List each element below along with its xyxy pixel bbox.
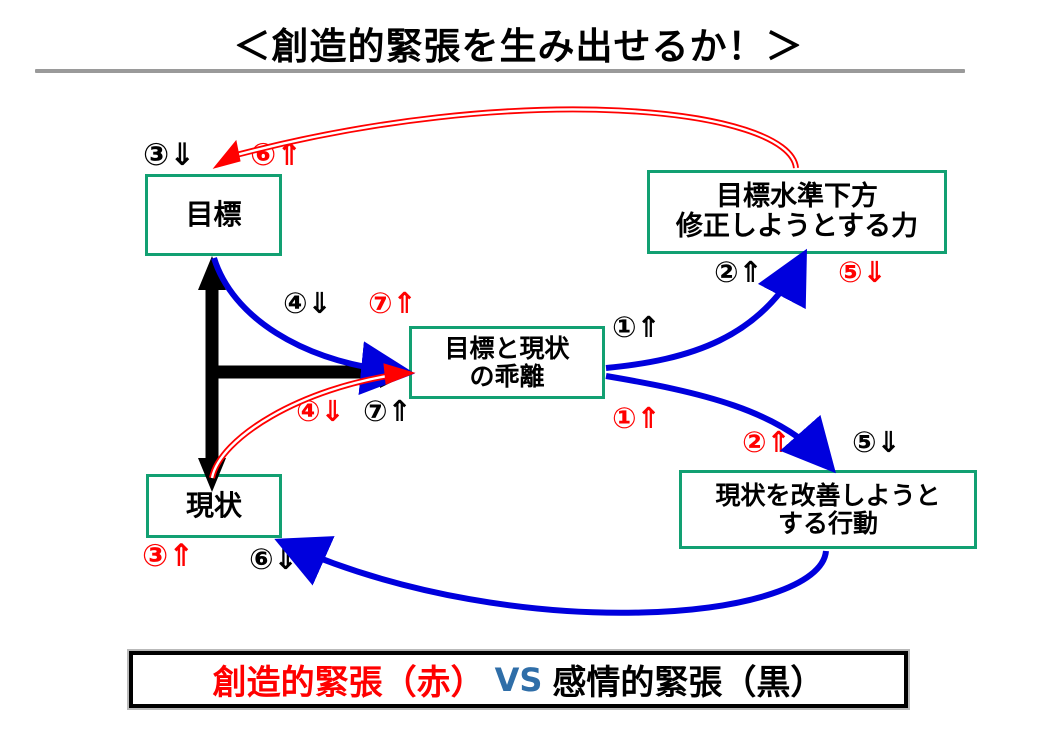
red-arrows — [212, 109, 796, 478]
slide-canvas: ＜創造的緊張を生み出せるか！＞ — [0, 0, 1037, 735]
blue-arrows — [214, 258, 826, 613]
arrow-layer — [0, 0, 1037, 735]
